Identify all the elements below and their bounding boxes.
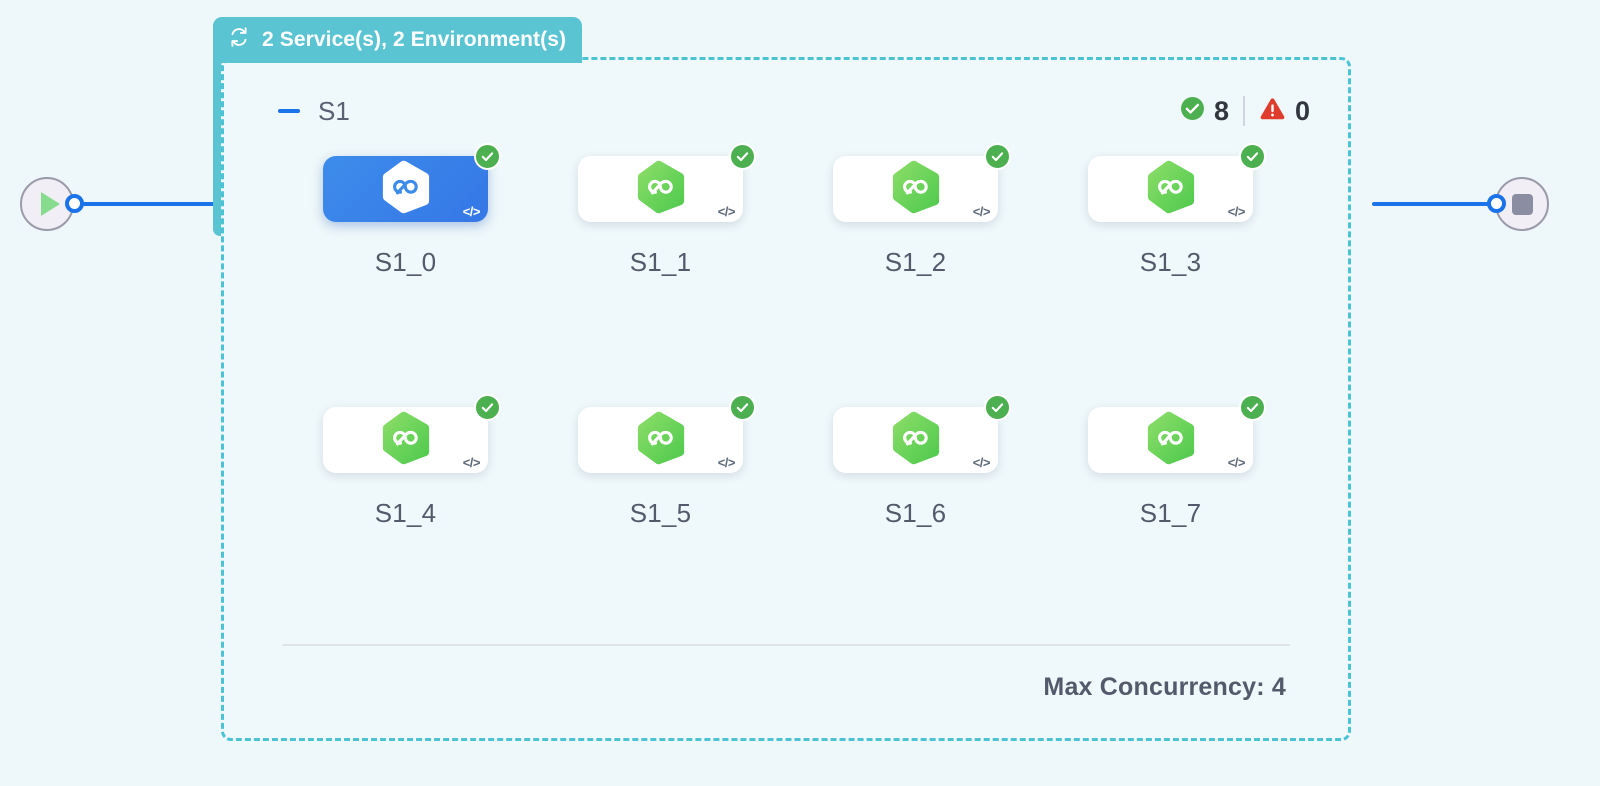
loop-group-title: S1 (318, 96, 350, 127)
service-node-S1_0: </>S1_0 (278, 156, 533, 407)
minus-icon[interactable] (276, 98, 302, 124)
play-icon (41, 192, 60, 216)
edge-start-to-group (78, 202, 226, 206)
check-circle-icon (474, 143, 501, 170)
warning-count: 0 (1295, 98, 1310, 125)
workflow-canvas: 2 Service(s), 2 Environment(s) S1 8 (0, 0, 1600, 786)
end-node-input-handle[interactable] (1487, 194, 1506, 213)
infinity-hex-icon (890, 159, 942, 220)
code-icon: </> (718, 455, 735, 470)
code-icon: </> (973, 455, 990, 470)
code-icon: </> (463, 455, 480, 470)
loop-group-status: 8 0 (1180, 96, 1310, 126)
check-circle-icon (729, 394, 756, 421)
service-node-label: S1_6 (885, 498, 947, 529)
code-icon: </> (463, 204, 480, 219)
service-node-S1_7: </>S1_7 (1043, 407, 1298, 658)
stop-icon (1512, 194, 1533, 215)
check-circle-icon (984, 143, 1011, 170)
service-node-label: S1_4 (375, 498, 437, 529)
infinity-hex-icon (380, 159, 432, 220)
service-node-card[interactable]: </> (833, 156, 998, 222)
service-node-S1_2: </>S1_2 (788, 156, 1043, 407)
infinity-hex-icon (635, 159, 687, 220)
service-node-card[interactable]: </> (1088, 407, 1253, 473)
success-status: 8 (1180, 96, 1229, 126)
service-node-card[interactable]: </> (323, 407, 488, 473)
code-icon: </> (1228, 204, 1245, 219)
code-icon: </> (718, 204, 735, 219)
service-node-card[interactable]: </> (323, 156, 488, 222)
max-concurrency-label: Max Concurrency: 4 (1043, 673, 1286, 702)
code-icon: </> (973, 204, 990, 219)
start-node-output-handle[interactable] (65, 194, 84, 213)
service-node-card[interactable]: </> (833, 407, 998, 473)
service-node-card[interactable]: </> (578, 156, 743, 222)
warning-status: 0 (1259, 96, 1310, 126)
service-node-label: S1_5 (630, 498, 692, 529)
service-node-S1_6: </>S1_6 (788, 407, 1043, 658)
infinity-hex-icon (1145, 410, 1197, 471)
service-node-S1_1: </>S1_1 (533, 156, 788, 407)
loop-group-tab[interactable]: 2 Service(s), 2 Environment(s) (213, 17, 582, 63)
service-node-S1_5: </>S1_5 (533, 407, 788, 658)
infinity-hex-icon (1145, 159, 1197, 220)
loop-group-tab-label: 2 Service(s), 2 Environment(s) (262, 28, 566, 52)
service-node-label: S1_2 (885, 247, 947, 278)
footer-divider (282, 644, 1290, 646)
service-node-grid: </>S1_0</>S1_1</>S1_2</>S1_3</>S1_4</>S1… (278, 156, 1298, 658)
service-node-label: S1_7 (1140, 498, 1202, 529)
check-circle-icon (474, 394, 501, 421)
service-node-label: S1_0 (375, 247, 437, 278)
infinity-hex-icon (635, 410, 687, 471)
loop-group-header: S1 8 (224, 88, 1348, 134)
service-node-S1_4: </>S1_4 (278, 407, 533, 658)
warning-triangle-icon (1259, 96, 1286, 126)
service-node-S1_3: </>S1_3 (1043, 156, 1298, 407)
service-node-label: S1_3 (1140, 247, 1202, 278)
infinity-hex-icon (890, 410, 942, 471)
service-node-label: S1_1 (630, 247, 692, 278)
check-circle-icon (1239, 394, 1266, 421)
edge-group-to-end (1372, 202, 1500, 206)
service-node-card[interactable]: </> (1088, 156, 1253, 222)
loop-group-container: S1 8 (221, 57, 1351, 741)
check-circle-icon (729, 143, 756, 170)
check-circle-icon (1180, 96, 1205, 126)
status-divider (1243, 96, 1245, 126)
infinity-hex-icon (380, 410, 432, 471)
check-circle-icon (984, 394, 1011, 421)
code-icon: </> (1228, 455, 1245, 470)
success-count: 8 (1214, 98, 1229, 125)
service-node-card[interactable]: </> (578, 407, 743, 473)
check-circle-icon (1239, 143, 1266, 170)
loop-icon (227, 25, 251, 55)
